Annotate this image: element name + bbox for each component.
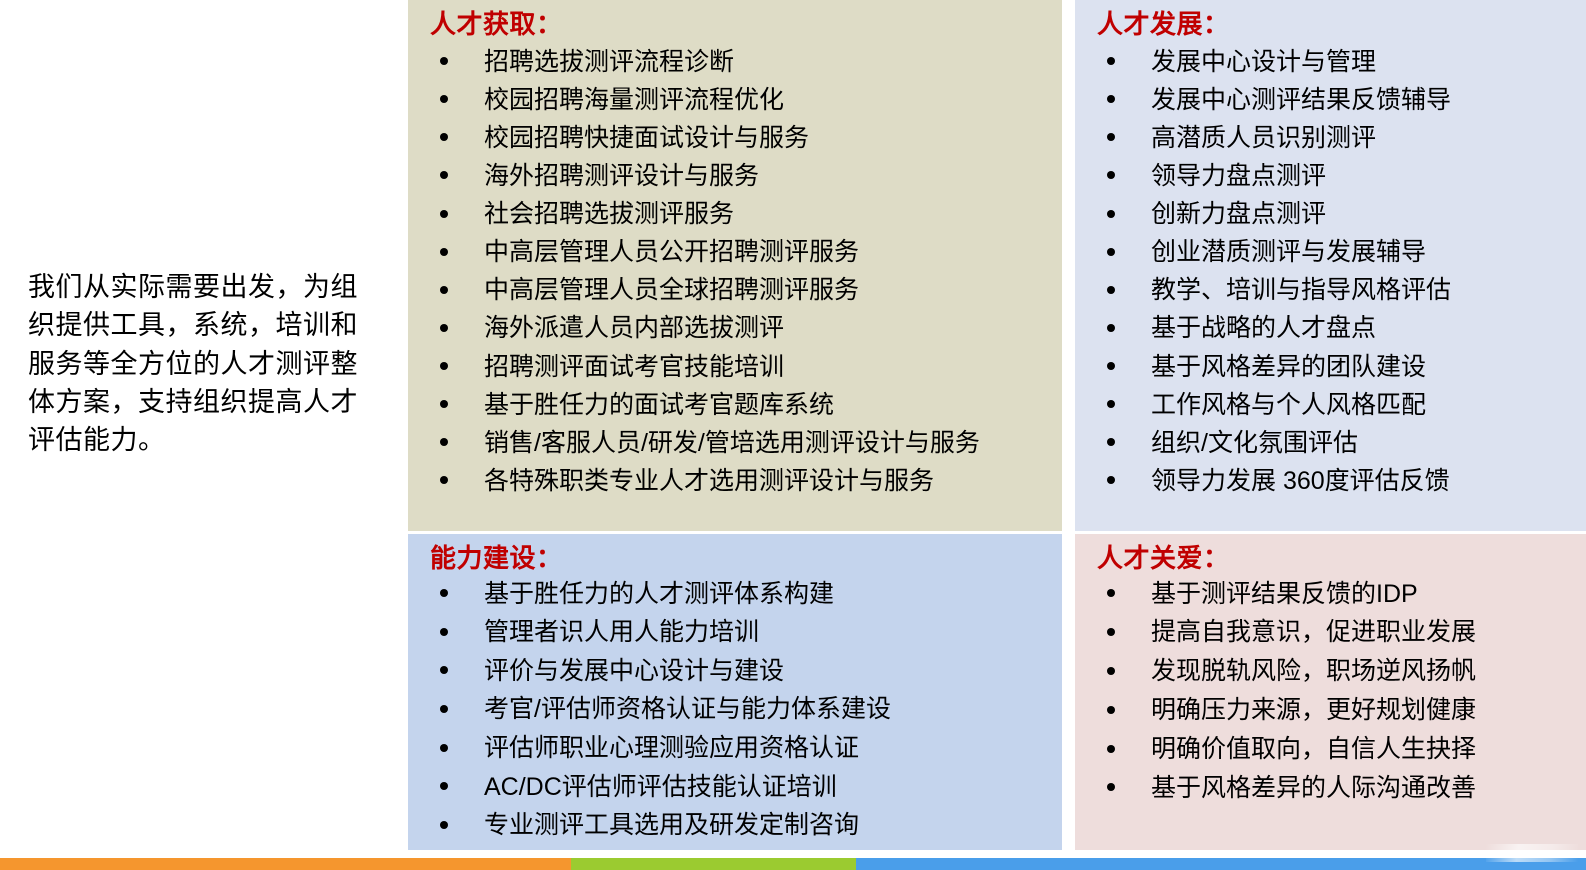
bullet-dot-icon [440, 821, 448, 829]
bullet-dot-icon [1107, 438, 1115, 446]
list-item-label: 基于战略的人才盘点 [1151, 314, 1376, 342]
list-item: 发展中心设计与管理 [1089, 43, 1576, 81]
list-item-label: 明确价值取向，自信人生抉择 [1151, 735, 1476, 763]
bullet-dot-icon [1107, 171, 1115, 179]
bullet-dot-icon [1107, 783, 1115, 791]
list-item: 基于风格差异的团队建设 [1089, 348, 1576, 386]
list-item-label: 高潜质人员识别测评 [1151, 124, 1376, 152]
bullet-dot-icon [440, 400, 448, 408]
bullet-dot-icon [1107, 95, 1115, 103]
list-item: 组织/文化氛围评估 [1089, 424, 1576, 462]
list-item: 基于风格差异的人际沟通改善 [1089, 769, 1576, 808]
list-item-label: 销售/客服人员/研发/管培选用测评设计与服务 [484, 429, 980, 457]
list-item: 招聘选拔测评流程诊断 [422, 43, 1052, 81]
list-item-label: 创新力盘点测评 [1151, 200, 1326, 228]
list-item-label: 招聘测评面试考官技能培训 [484, 353, 784, 381]
list-item-label: 创业潜质测评与发展辅导 [1151, 238, 1426, 266]
list-item-label: 评估师职业心理测验应用资格认证 [484, 734, 859, 762]
list-item: 管理者识人用人能力培训 [422, 613, 1052, 652]
list-item-label: 社会招聘选拔测评服务 [484, 200, 734, 228]
panel-title-capability-building: 能力建设： [430, 542, 1052, 575]
list-item-label: 发展中心测评结果反馈辅导 [1151, 86, 1451, 114]
bullet-dot-icon [1107, 706, 1115, 714]
list-item: 明确压力来源，更好规划健康 [1089, 691, 1576, 730]
bullet-dot-icon [1107, 628, 1115, 636]
list-item: 各特殊职类专业人才选用测评设计与服务 [422, 462, 1052, 500]
list-item-label: AC/DC评估师评估技能认证培训 [484, 773, 837, 801]
bullet-dot-icon [1107, 210, 1115, 218]
panel-talent-development: 人才发展： 发展中心设计与管理发展中心测评结果反馈辅导高潜质人员识别测评领导力盘… [1075, 0, 1586, 531]
bullet-dot-icon [1107, 324, 1115, 332]
list-item: 领导力盘点测评 [1089, 157, 1576, 195]
list-item-label: 招聘选拔测评流程诊断 [484, 48, 734, 76]
list-item-label: 组织/文化氛围评估 [1151, 429, 1358, 457]
bullet-dot-icon [440, 57, 448, 65]
list-item: 工作风格与个人风格匹配 [1089, 386, 1576, 424]
bullet-dot-icon [1107, 286, 1115, 294]
list-item: 高潜质人员识别测评 [1089, 119, 1576, 157]
list-item-label: 发展中心设计与管理 [1151, 48, 1376, 76]
bullet-dot-icon [440, 589, 448, 597]
list-item: 校园招聘海量测评流程优化 [422, 81, 1052, 119]
corner-watermark-logo [1486, 844, 1578, 862]
list-item-label: 明确压力来源，更好规划健康 [1151, 696, 1476, 724]
panel-title-talent-care: 人才关爱： [1097, 542, 1576, 575]
list-item: 基于胜任力的人才测评体系构建 [422, 575, 1052, 614]
bullet-dot-icon [440, 248, 448, 256]
list-item: 评估师职业心理测验应用资格认证 [422, 729, 1052, 768]
list-item: 教学、培训与指导风格评估 [1089, 271, 1576, 309]
list-item-label: 提高自我意识，促进职业发展 [1151, 618, 1476, 646]
list-item-label: 校园招聘快捷面试设计与服务 [484, 124, 809, 152]
footer-segment-green [571, 858, 856, 870]
bullet-dot-icon [440, 324, 448, 332]
panel-capability-building: 能力建设： 基于胜任力的人才测评体系构建管理者识人用人能力培训评价与发展中心设计… [408, 534, 1062, 850]
bullet-dot-icon [440, 744, 448, 752]
list-item-label: 工作风格与个人风格匹配 [1151, 391, 1426, 419]
panel-talent-care: 人才关爱： 基于测评结果反馈的IDP提高自我意识，促进职业发展发现脱轨风险，职场… [1075, 534, 1586, 850]
list-item-label: 领导力发展 360度评估反馈 [1151, 467, 1450, 495]
list-item: 创新力盘点测评 [1089, 195, 1576, 233]
bullet-dot-icon [440, 171, 448, 179]
list-item: 提高自我意识，促进职业发展 [1089, 613, 1576, 652]
list-item: AC/DC评估师评估技能认证培训 [422, 768, 1052, 807]
list-item: 发现脱轨风险，职场逆风扬帆 [1089, 652, 1576, 691]
bullet-dot-icon [440, 95, 448, 103]
list-item: 创业潜质测评与发展辅导 [1089, 233, 1576, 271]
slide-canvas: 我们从实际需要出发，为组织提供工具，系统，培训和服务等全方位的人才测评整体方案，… [0, 0, 1586, 870]
bullet-dot-icon [440, 286, 448, 294]
list-item: 中高层管理人员全球招聘测评服务 [422, 271, 1052, 309]
list-item-label: 专业测评工具选用及研发定制咨询 [484, 811, 859, 839]
list-item-label: 领导力盘点测评 [1151, 162, 1326, 190]
list-item: 校园招聘快捷面试设计与服务 [422, 119, 1052, 157]
list-item-label: 基于测评结果反馈的IDP [1151, 580, 1418, 608]
bullet-dot-icon [1107, 400, 1115, 408]
list-item: 海外派遣人员内部选拔测评 [422, 309, 1052, 347]
list-item-label: 基于胜任力的人才测评体系构建 [484, 580, 834, 608]
panel-title-talent-development: 人才发展： [1097, 8, 1576, 41]
list-item: 考官/评估师资格认证与能力体系建设 [422, 690, 1052, 729]
list-item: 招聘测评面试考官技能培训 [422, 348, 1052, 386]
footer-color-bar [0, 858, 1586, 870]
list-item: 海外招聘测评设计与服务 [422, 157, 1052, 195]
list-item-label: 各特殊职类专业人才选用测评设计与服务 [484, 467, 934, 495]
list-item-label: 发现脱轨风险，职场逆风扬帆 [1151, 657, 1476, 685]
list-item: 基于胜任力的面试考官题库系统 [422, 386, 1052, 424]
bullet-dot-icon [1107, 362, 1115, 370]
list-item-label: 基于风格差异的团队建设 [1151, 353, 1426, 381]
list-item: 中高层管理人员公开招聘测评服务 [422, 233, 1052, 271]
footer-segment-blue [856, 858, 1586, 870]
bullet-dot-icon [440, 133, 448, 141]
bullet-dot-icon [1107, 248, 1115, 256]
bullet-dot-icon [1107, 667, 1115, 675]
list-item: 领导力发展 360度评估反馈 [1089, 462, 1576, 500]
intro-paragraph: 我们从实际需要出发，为组织提供工具，系统，培训和服务等全方位的人才测评整体方案，… [28, 268, 384, 460]
bullet-dot-icon [440, 705, 448, 713]
bullet-dot-icon [1107, 476, 1115, 484]
list-item-label: 基于胜任力的面试考官题库系统 [484, 391, 834, 419]
bullet-dot-icon [1107, 745, 1115, 753]
bullet-dot-icon [440, 628, 448, 636]
list-item: 基于战略的人才盘点 [1089, 309, 1576, 347]
list-item: 发展中心测评结果反馈辅导 [1089, 81, 1576, 119]
list-item-label: 校园招聘海量测评流程优化 [484, 86, 784, 114]
list-item: 专业测评工具选用及研发定制咨询 [422, 806, 1052, 845]
list-item: 社会招聘选拔测评服务 [422, 195, 1052, 233]
bullet-dot-icon [440, 438, 448, 446]
bullet-dot-icon [1107, 133, 1115, 141]
bullet-dot-icon [440, 362, 448, 370]
list-item-label: 基于风格差异的人际沟通改善 [1151, 774, 1476, 802]
bullet-dot-icon [1107, 57, 1115, 65]
bullet-list-talent-development: 发展中心设计与管理发展中心测评结果反馈辅导高潜质人员识别测评领导力盘点测评创新力… [1089, 43, 1576, 501]
list-item: 基于测评结果反馈的IDP [1089, 575, 1576, 614]
bullet-list-capability-building: 基于胜任力的人才测评体系构建管理者识人用人能力培训评价与发展中心设计与建设考官/… [422, 575, 1052, 845]
list-item-label: 教学、培训与指导风格评估 [1151, 276, 1451, 304]
panel-title-talent-acquisition: 人才获取： [430, 8, 1052, 41]
list-item: 评价与发展中心设计与建设 [422, 652, 1052, 691]
bullet-dot-icon [1107, 589, 1115, 597]
bullet-list-talent-acquisition: 招聘选拔测评流程诊断校园招聘海量测评流程优化校园招聘快捷面试设计与服务海外招聘测… [422, 43, 1052, 501]
list-item: 明确价值取向，自信人生抉择 [1089, 730, 1576, 769]
list-item-label: 中高层管理人员公开招聘测评服务 [484, 238, 859, 266]
list-item-label: 中高层管理人员全球招聘测评服务 [484, 276, 859, 304]
list-item-label: 海外招聘测评设计与服务 [484, 162, 759, 190]
list-item: 销售/客服人员/研发/管培选用测评设计与服务 [422, 424, 1052, 462]
bullet-dot-icon [440, 476, 448, 484]
list-item-label: 管理者识人用人能力培训 [484, 618, 759, 646]
bullet-list-talent-care: 基于测评结果反馈的IDP提高自我意识，促进职业发展发现脱轨风险，职场逆风扬帆明确… [1089, 575, 1576, 808]
footer-segment-orange [0, 858, 571, 870]
panel-talent-acquisition: 人才获取： 招聘选拔测评流程诊断校园招聘海量测评流程优化校园招聘快捷面试设计与服… [408, 0, 1062, 531]
bullet-dot-icon [440, 782, 448, 790]
list-item-label: 考官/评估师资格认证与能力体系建设 [484, 695, 891, 723]
list-item-label: 海外派遣人员内部选拔测评 [484, 314, 784, 342]
bullet-dot-icon [440, 666, 448, 674]
bullet-dot-icon [440, 210, 448, 218]
list-item-label: 评价与发展中心设计与建设 [484, 657, 784, 685]
